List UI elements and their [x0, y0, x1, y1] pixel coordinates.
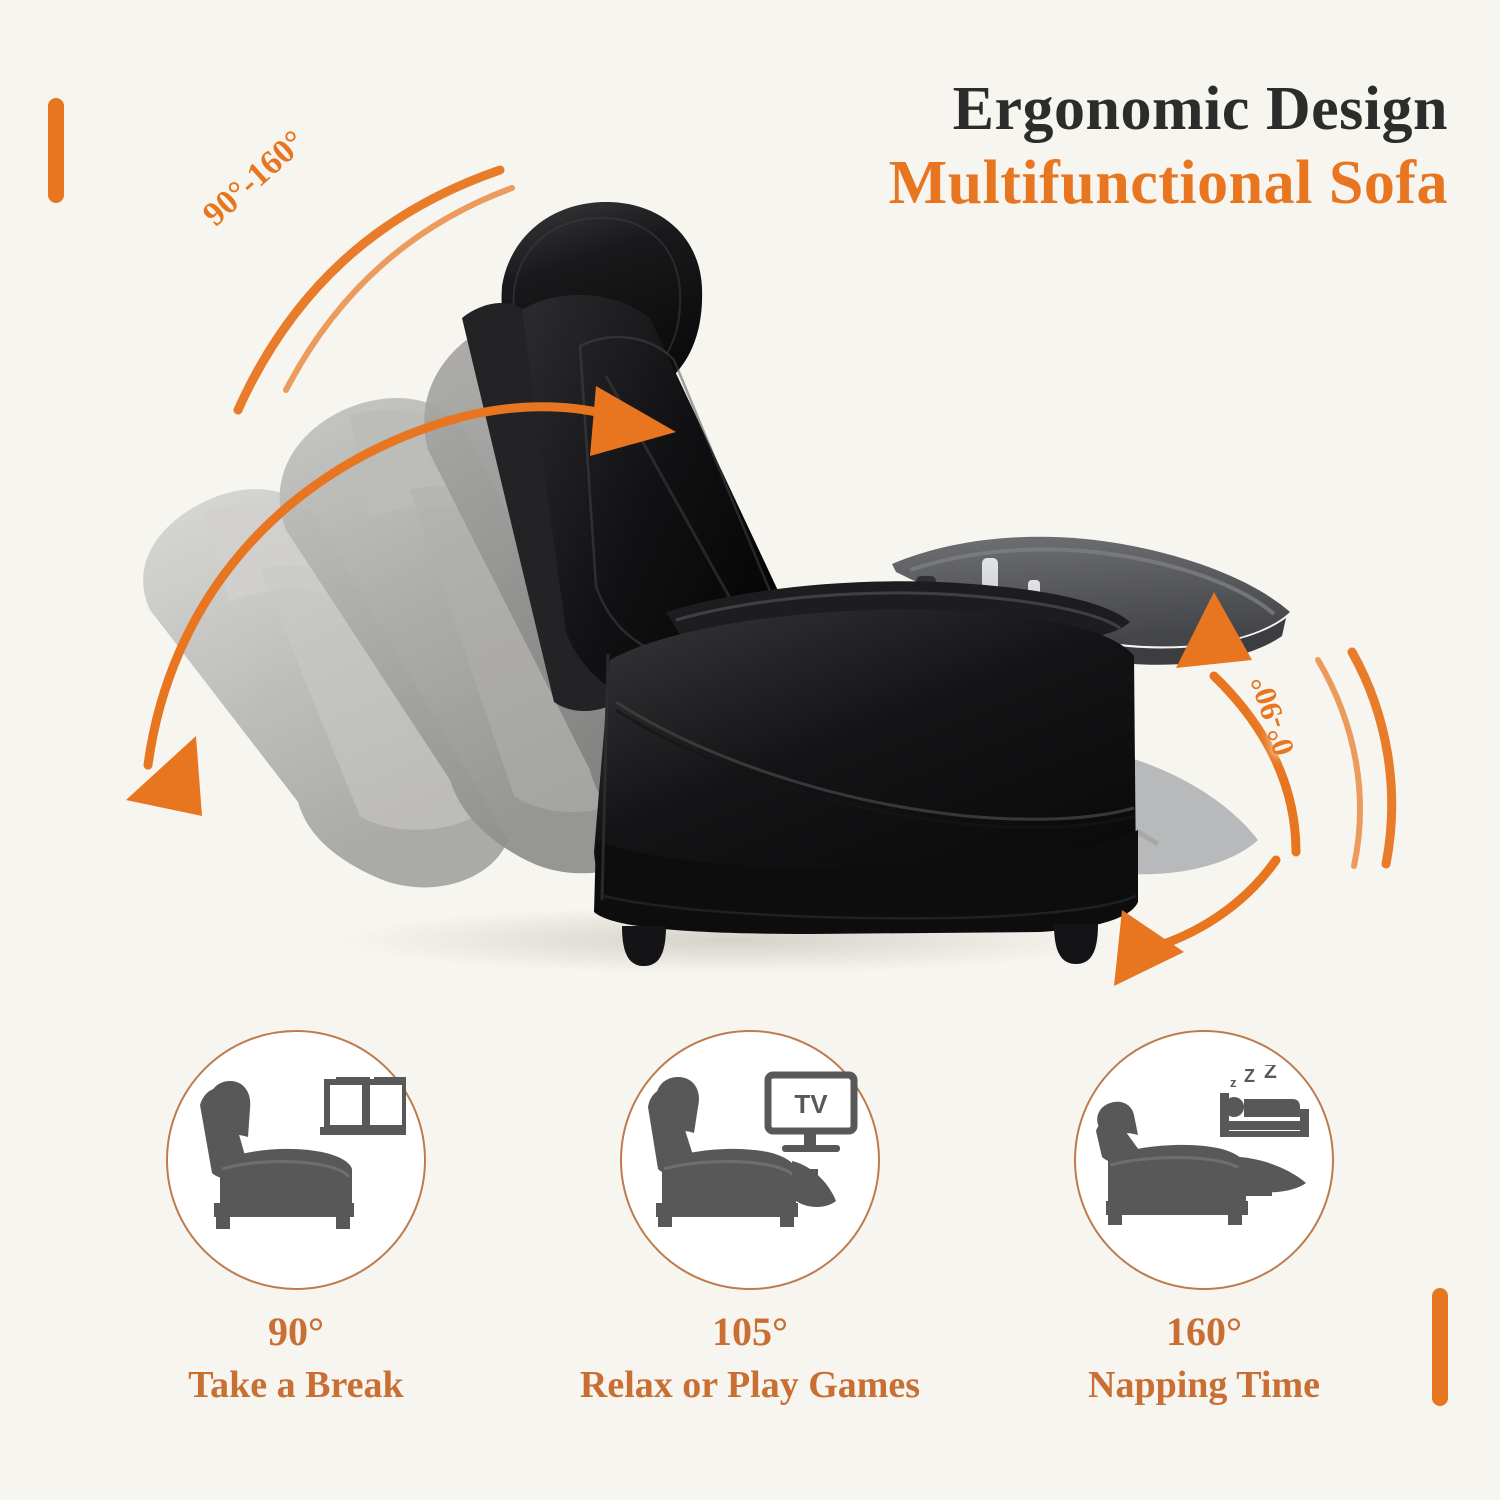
open-book-icon — [320, 1077, 406, 1135]
feature-caption: Relax or Play Games — [580, 1366, 920, 1404]
feature-caption: Napping Time — [1088, 1366, 1320, 1404]
feature-angle: 160° — [1166, 1312, 1242, 1352]
decorative-arcs-right — [1318, 652, 1392, 866]
svg-text:TV: TV — [794, 1089, 828, 1119]
feature-item-napping-time[interactable]: z Z Z — [1039, 1030, 1369, 1404]
backrest-arrow-head-left — [126, 736, 202, 816]
chair-body — [594, 581, 1138, 966]
feature-angle: 105° — [712, 1312, 788, 1352]
feature-item-relax-or-play-games[interactable]: TV — [585, 1030, 915, 1404]
product-illustration — [110, 140, 1410, 1000]
feature-item-take-a-break[interactable]: 90° Take a Break — [131, 1030, 461, 1404]
svg-text:Z: Z — [1264, 1065, 1277, 1083]
page-title: Ergonomic Design — [889, 78, 1448, 141]
feature-circle-160: z Z Z — [1074, 1030, 1334, 1290]
feature-circle-90 — [166, 1030, 426, 1290]
recliner-flat-icon — [1096, 1102, 1306, 1225]
feature-caption: Take a Break — [188, 1366, 403, 1404]
sleeping-bed-icon: z Z Z — [1220, 1065, 1309, 1137]
feature-circle-105: TV — [620, 1030, 880, 1290]
feature-row: 90° Take a Break TV — [0, 1030, 1500, 1450]
svg-text:Z: Z — [1244, 1066, 1255, 1086]
feature-angle: 90° — [268, 1312, 324, 1352]
tv-icon: TV — [768, 1075, 854, 1152]
svg-text:z: z — [1230, 1075, 1237, 1090]
accent-bar-top-left — [48, 98, 64, 203]
infographic-canvas: Ergonomic Design Multifunctional Sofa — [0, 0, 1500, 1500]
footrest-arrow-head-down — [1114, 910, 1184, 986]
